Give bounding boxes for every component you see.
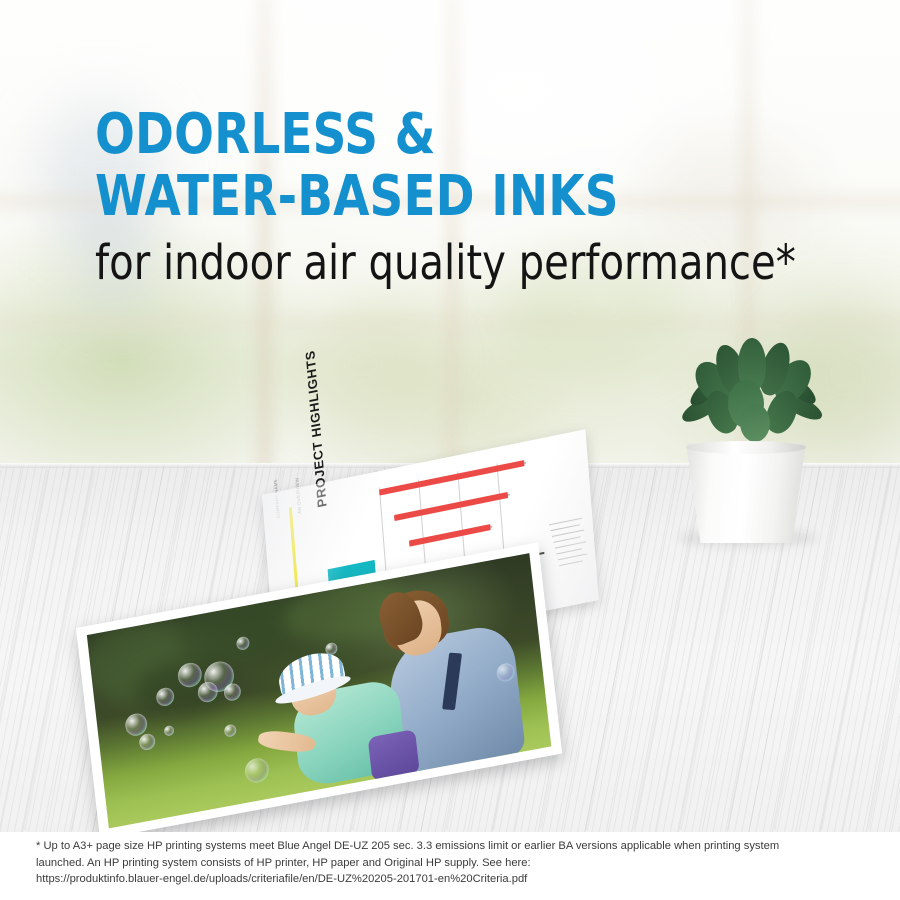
footnote-line-2: launched. An HP printing system consists… — [36, 855, 872, 872]
photo-bubble — [224, 724, 237, 738]
headline-line-2: WATER-BASED INKS — [95, 166, 811, 228]
headline-line-1: ODORLESS & — [95, 104, 811, 166]
marketing-image: ODORLESS & WATER-BASED INKS for indoor a… — [0, 0, 900, 900]
photo-bubble — [164, 725, 175, 737]
pot-rim — [686, 441, 806, 454]
headline-block: ODORLESS & WATER-BASED INKS for indoor a… — [95, 104, 865, 290]
footnote-line-1: * Up to A3+ page size HP printing system… — [36, 838, 872, 855]
plant-pot — [686, 443, 806, 543]
photo-bubble — [244, 756, 270, 784]
headline-subline: for indoor air quality performance* — [95, 236, 811, 290]
footnote: * Up to A3+ page size HP printing system… — [36, 838, 872, 888]
photo-bubble — [138, 733, 156, 752]
photo-bubble — [223, 682, 242, 702]
potted-plant — [668, 338, 838, 538]
footnote-url[interactable]: https://produktinfo.blauer-engel.de/uplo… — [36, 871, 872, 888]
photo-child-shorts — [368, 729, 420, 782]
plant-leaf-center — [740, 404, 770, 442]
